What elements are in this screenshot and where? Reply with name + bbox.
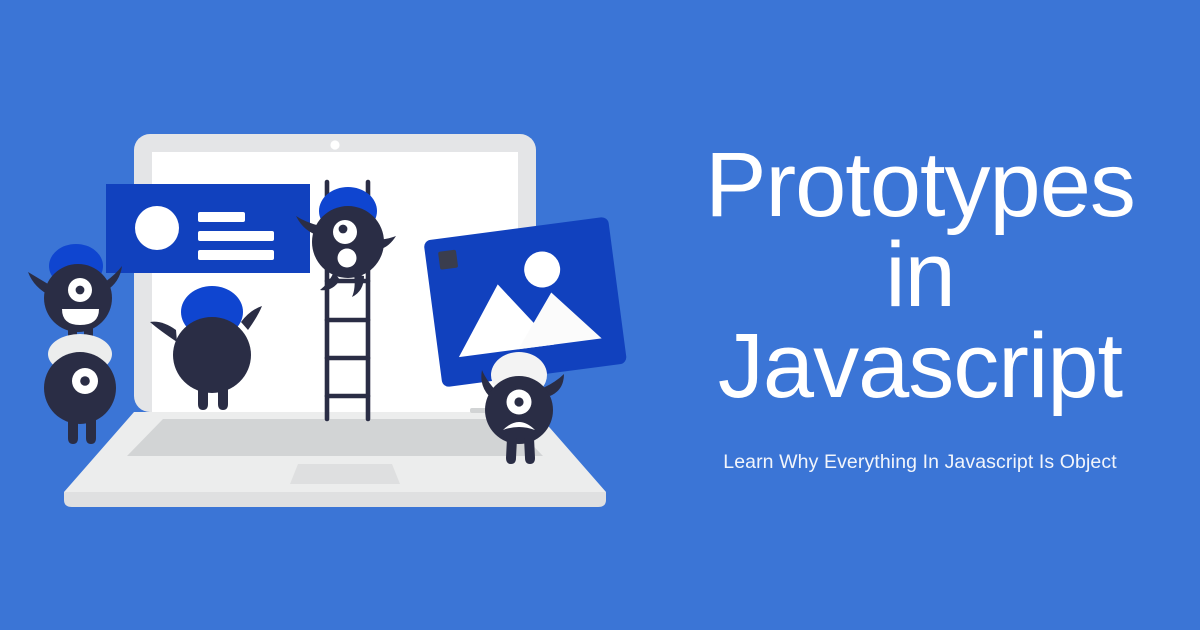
banner: Prototypes in Javascript Learn Why Every… — [0, 0, 1200, 630]
title-line-2: in — [705, 230, 1135, 320]
page-subtitle: Learn Why Everything In Javascript Is Ob… — [723, 451, 1116, 474]
banner-text-block: Prototypes in Javascript Learn Why Every… — [640, 0, 1200, 630]
title-line-3: Javascript — [705, 321, 1135, 411]
title-line-1: Prototypes — [705, 140, 1135, 230]
laptop-with-characters-illustration — [0, 0, 640, 630]
page-title: Prototypes in Javascript — [705, 140, 1135, 410]
character-stacked-bottom — [44, 334, 116, 444]
profile-card — [106, 184, 310, 273]
